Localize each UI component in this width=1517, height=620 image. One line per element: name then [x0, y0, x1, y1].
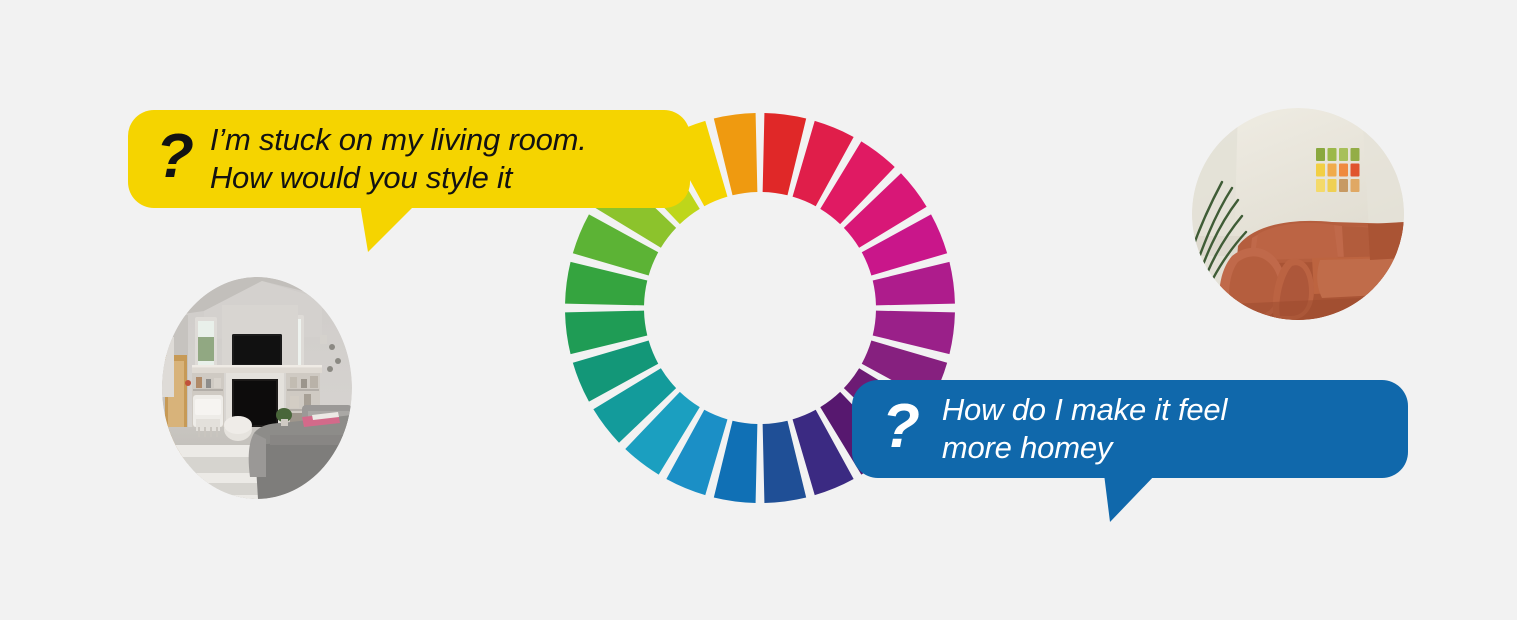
paint-swatch: [1351, 179, 1360, 192]
paint-swatch: [1328, 164, 1337, 177]
bubble-yellow-text: I’m stuck on my living room. How would y…: [210, 121, 587, 197]
bubble-yellow-line-1: I’m stuck on my living room.: [210, 121, 587, 159]
paint-swatch: [1316, 179, 1325, 192]
question-bubble-yellow[interactable]: ? I’m stuck on my living room. How would…: [128, 110, 690, 208]
bubble-blue-body: ? How do I make it feel more homey: [852, 380, 1408, 478]
photo-living-room: [162, 277, 352, 499]
bubble-yellow-tail: [360, 204, 416, 252]
paint-swatch: [1339, 179, 1348, 192]
paint-swatch: [1328, 179, 1337, 192]
bubble-blue-tail: [1104, 474, 1156, 522]
question-mark-icon: ?: [882, 399, 920, 455]
bubble-yellow-line-2: How would you style it: [210, 159, 587, 197]
bubble-blue-text: How do I make it feel more homey: [942, 391, 1227, 467]
bubble-yellow-body: ? I’m stuck on my living room. How would…: [128, 110, 690, 208]
paint-swatch: [1316, 164, 1325, 177]
paint-swatch: [1328, 148, 1337, 161]
paint-swatch: [1316, 148, 1325, 161]
paint-swatch: [1339, 164, 1348, 177]
photo-terracotta-sofa: [1192, 108, 1404, 320]
paint-swatch: [1339, 148, 1348, 161]
bubble-blue-line-1: How do I make it feel: [942, 391, 1227, 429]
banner-canvas: ? I’m stuck on my living room. How would…: [0, 0, 1517, 620]
paint-swatch: [1351, 148, 1360, 161]
paint-swatch: [1351, 164, 1360, 177]
bubble-blue-line-2: more homey: [942, 429, 1227, 467]
question-bubble-blue[interactable]: ? How do I make it feel more homey: [852, 380, 1408, 478]
question-mark-icon: ?: [156, 129, 194, 185]
